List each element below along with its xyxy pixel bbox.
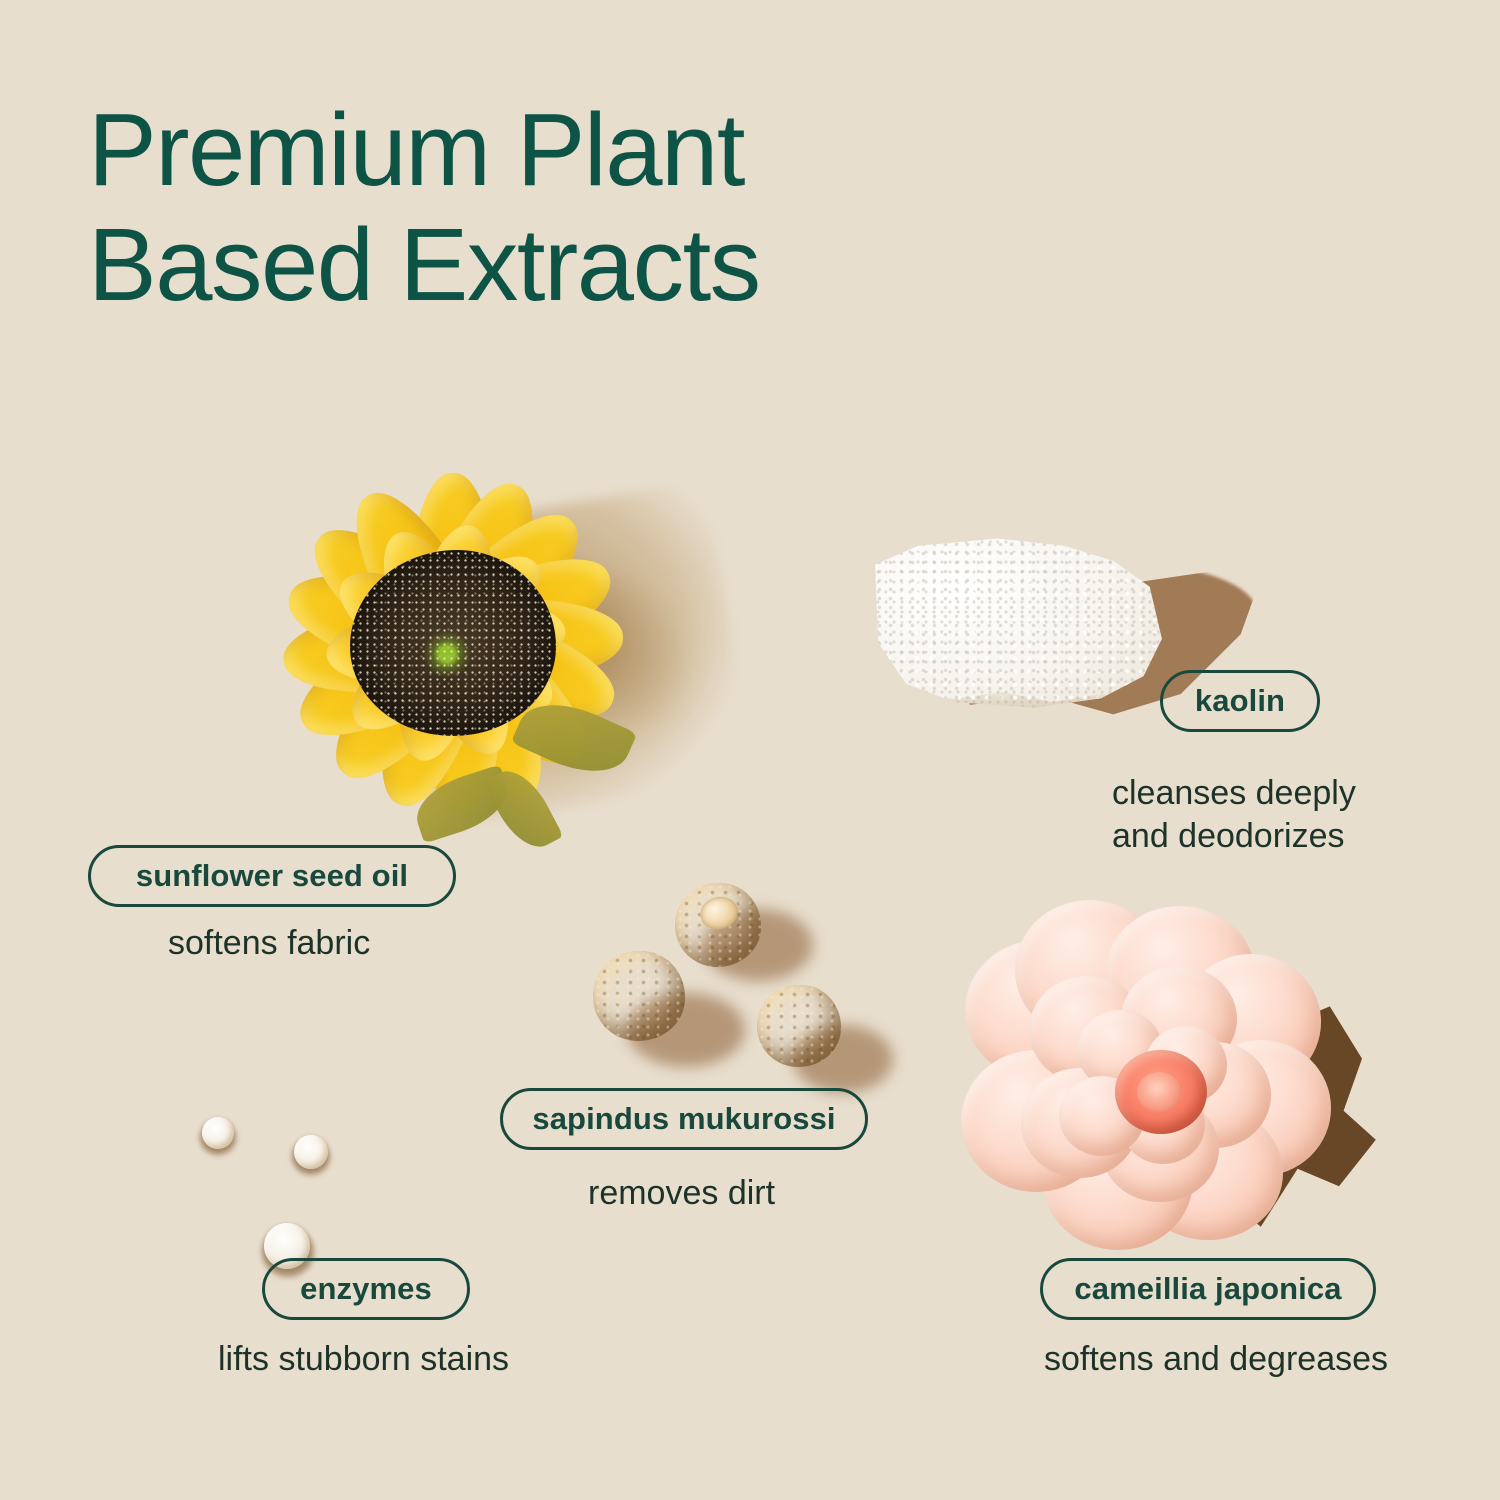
enzyme-bead <box>294 1135 328 1169</box>
camellia-center <box>1115 1050 1207 1134</box>
caption-sunflower-seed-oil: softens fabric <box>168 922 528 965</box>
caption-sapindus-mukurossi: removes dirt <box>588 1172 908 1215</box>
label-cameillia-japonica[interactable]: cameillia japonica <box>1040 1258 1376 1320</box>
caption-cameillia-japonica: softens and degreases <box>1044 1338 1444 1381</box>
label-text: enzymes <box>300 1271 432 1307</box>
label-text: cameillia japonica <box>1074 1271 1341 1307</box>
label-text: kaolin <box>1195 683 1285 719</box>
label-text: sapindus mukurossi <box>532 1101 835 1137</box>
label-sunflower-seed-oil[interactable]: sunflower seed oil <box>88 845 456 907</box>
caption-kaolin: cleanses deeply and deodorizes <box>1112 772 1412 858</box>
soap-nuts-photo <box>575 875 895 1105</box>
page-title: Premium Plant Based Extracts <box>88 92 760 323</box>
soap-nut <box>593 951 685 1041</box>
sunflower-seed-disc <box>350 550 556 736</box>
label-enzymes[interactable]: enzymes <box>262 1258 470 1320</box>
label-sapindus-mukurossi[interactable]: sapindus mukurossi <box>500 1088 868 1150</box>
sunflower-photo <box>218 418 688 868</box>
label-text: sunflower seed oil <box>136 858 408 894</box>
soap-nut <box>757 985 841 1067</box>
caption-enzymes: lifts stubborn stains <box>218 1338 578 1381</box>
camellia-flower-photo <box>955 900 1385 1270</box>
label-kaolin[interactable]: kaolin <box>1160 670 1320 732</box>
enzyme-bead <box>202 1117 234 1149</box>
infographic-canvas: Premium Plant Based Extracts <box>0 0 1500 1500</box>
